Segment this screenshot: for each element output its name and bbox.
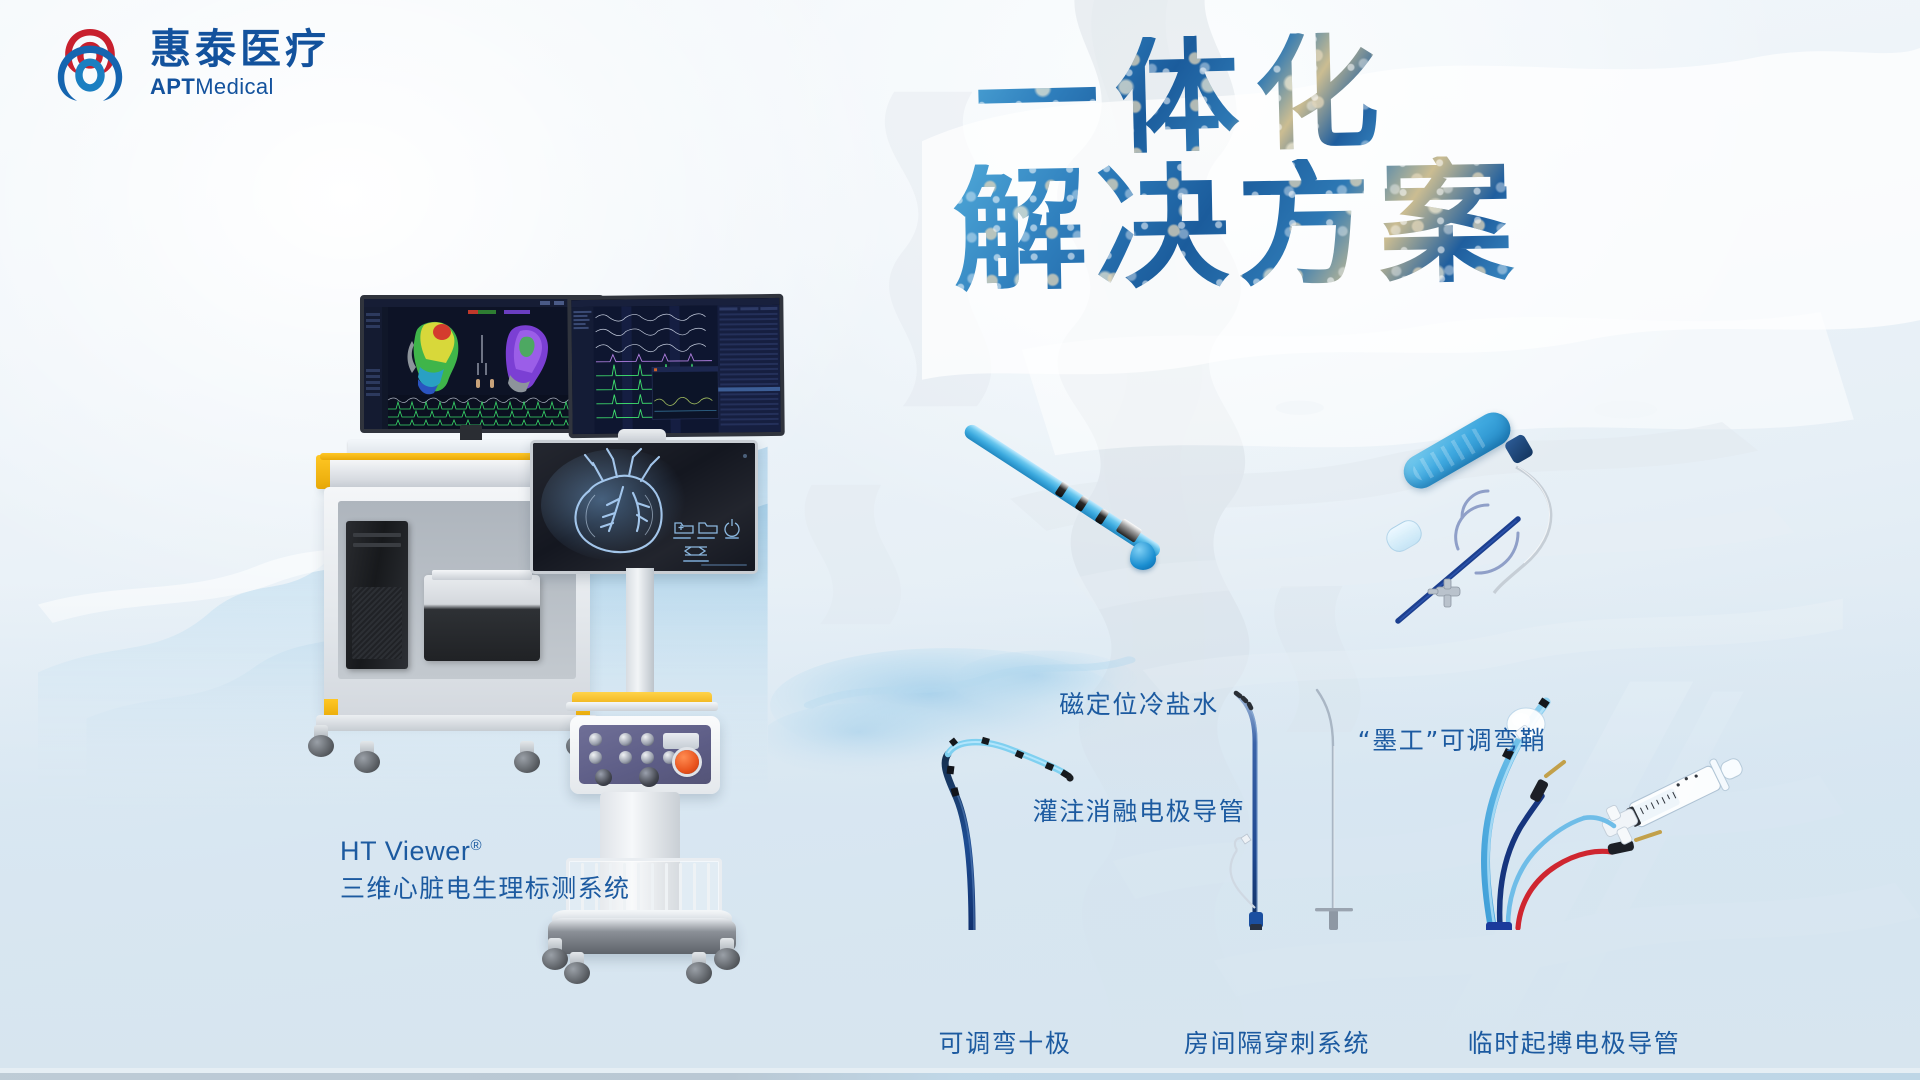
pc-drive-bay xyxy=(353,543,401,547)
caster-wheel xyxy=(354,751,380,773)
mapping-screen-content xyxy=(364,299,600,429)
saline-droplet xyxy=(1130,542,1156,570)
ht-viewer-label: HT Viewer® 三维心脏电生理标测系统 xyxy=(340,832,630,907)
ablation-catheter-label-line1: 磁定位冷盐水 xyxy=(1033,687,1246,723)
caster-wheel xyxy=(714,948,740,970)
ground-port[interactable] xyxy=(595,769,612,786)
trademark-symbol: ® xyxy=(470,837,482,854)
ecg-monitor-screen xyxy=(571,298,780,434)
heart-display-monitor xyxy=(530,440,758,574)
steerable-sheath-visual xyxy=(1390,445,1710,635)
caster-front-right xyxy=(714,938,740,968)
brand-name-en: APTMedical xyxy=(150,74,330,100)
pc-optical-drive xyxy=(353,533,401,537)
sheath-tubing-and-dilator xyxy=(1390,445,1710,635)
printer xyxy=(424,575,540,661)
basket-bar xyxy=(693,863,696,917)
ablation-catheter-visual xyxy=(980,430,1200,590)
ecg-screen-content xyxy=(571,298,780,434)
pc-tower xyxy=(346,521,408,669)
worktop-accent-left xyxy=(316,455,330,489)
brand-name-cn: 惠泰医疗 xyxy=(150,28,330,71)
basket-bar xyxy=(665,863,668,917)
generator-cart xyxy=(530,440,790,1060)
connector-port[interactable] xyxy=(589,733,602,746)
connector-port[interactable] xyxy=(641,751,654,764)
pacing-catheter-label: 临时起搏电极导管 xyxy=(1468,955,1681,1080)
connector-port[interactable] xyxy=(619,733,632,746)
caster-wheel xyxy=(308,735,334,757)
main-connector-port[interactable] xyxy=(639,767,659,787)
headline-calligraphy: 一体化 解决方案 xyxy=(975,36,1675,336)
transseptal-system-label-line1: 房间隔穿刺系统 xyxy=(1184,1026,1370,1062)
ablation-catheter-label: 磁定位冷盐水 灌注消融电极导管 xyxy=(1033,616,1246,900)
ablation-catheter-label-line2: 灌注消融电极导管 xyxy=(1033,794,1246,830)
brand-name-en-light: Medical xyxy=(195,74,274,99)
control-unit xyxy=(570,716,720,794)
basket-bar xyxy=(707,863,710,917)
caster-wheel xyxy=(564,962,590,984)
cart-tray xyxy=(566,702,718,711)
transseptal-system-label: 房间隔穿刺系统 xyxy=(1184,955,1370,1080)
basket-bar xyxy=(679,863,682,917)
basket-bar xyxy=(651,863,654,917)
status-panel xyxy=(663,733,699,749)
apt-medical-emblem-icon xyxy=(44,18,136,110)
pacing-catheter-label-line1: 临时起搏电极导管 xyxy=(1468,1026,1681,1062)
brand-logo: 惠泰医疗 APTMedical xyxy=(44,18,330,110)
steerable-sheath-label: “墨工”可调弯鞘 xyxy=(1358,652,1547,830)
connector-port[interactable] xyxy=(641,733,654,746)
display-column xyxy=(626,568,654,696)
caster-rear-left xyxy=(564,952,590,982)
caster-rear-left xyxy=(354,741,380,771)
headline-line-1: 一体化 xyxy=(974,31,1397,165)
ecg-monitor xyxy=(567,294,784,438)
caster-front-left xyxy=(308,725,334,755)
ht-viewer-name-cn: 三维心脏电生理标测系统 xyxy=(340,871,630,907)
caster-rear-right xyxy=(686,952,712,982)
mapping-monitor-screen xyxy=(364,299,600,429)
emergency-button[interactable] xyxy=(675,750,699,774)
decapolar-catheter-label: 可调弯十极 xyxy=(938,955,1071,1080)
control-unit-panel xyxy=(579,725,711,784)
ht-viewer-name-en: HT Viewer® xyxy=(340,832,630,871)
connector-port[interactable] xyxy=(619,751,632,764)
headline-line-2: 解决方案 xyxy=(952,155,1522,299)
connector-port[interactable] xyxy=(589,751,602,764)
brand-name-en-bold: APT xyxy=(150,74,195,99)
heart-display-content xyxy=(533,443,755,571)
steerable-sheath-label-line1: “墨工”可调弯鞘 xyxy=(1358,723,1547,759)
caster-wheel xyxy=(686,962,712,984)
basket-bar xyxy=(637,863,640,917)
pc-vent xyxy=(352,587,402,659)
printer-paper-tray xyxy=(432,570,532,580)
cart-rolling-base xyxy=(548,918,736,954)
poster-canvas: 惠泰医疗 APTMedical 一体化 解决方案 xyxy=(0,0,1920,1080)
decapolar-catheter-label-line1: 可调弯十极 xyxy=(938,1026,1071,1062)
